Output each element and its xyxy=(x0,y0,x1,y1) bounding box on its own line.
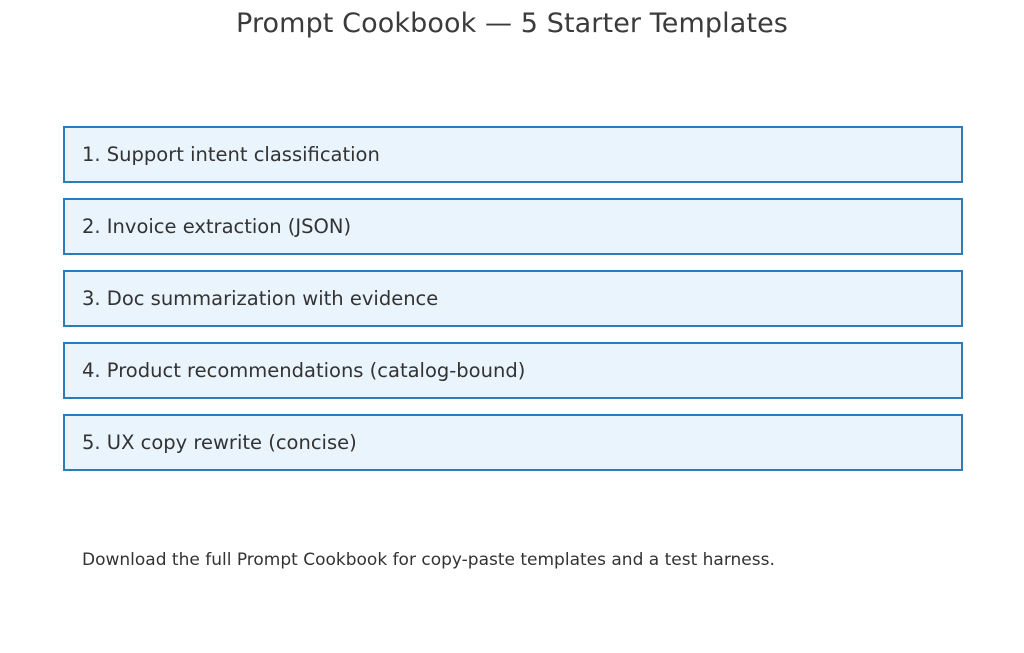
list-item-label: 2. Invoice extraction (JSON) xyxy=(82,215,351,238)
list-item-label: 5. UX copy rewrite (concise) xyxy=(82,431,357,454)
page-title: Prompt Cookbook — 5 Starter Templates xyxy=(0,8,1024,39)
list-item[interactable]: 2. Invoice extraction (JSON) xyxy=(63,198,963,255)
list-item[interactable]: 5. UX copy rewrite (concise) xyxy=(63,414,963,471)
template-list: 1. Support intent classification 2. Invo… xyxy=(63,126,963,471)
list-item[interactable]: 3. Doc summarization with evidence xyxy=(63,270,963,327)
list-item-label: 3. Doc summarization with evidence xyxy=(82,287,438,310)
list-item-label: 1. Support intent classification xyxy=(82,143,380,166)
list-item-label: 4. Product recommendations (catalog-boun… xyxy=(82,359,525,382)
list-item[interactable]: 1. Support intent classification xyxy=(63,126,963,183)
list-item[interactable]: 4. Product recommendations (catalog-boun… xyxy=(63,342,963,399)
footnote-text: Download the full Prompt Cookbook for co… xyxy=(82,550,775,570)
slide-canvas: Prompt Cookbook — 5 Starter Templates 1.… xyxy=(0,0,1024,653)
